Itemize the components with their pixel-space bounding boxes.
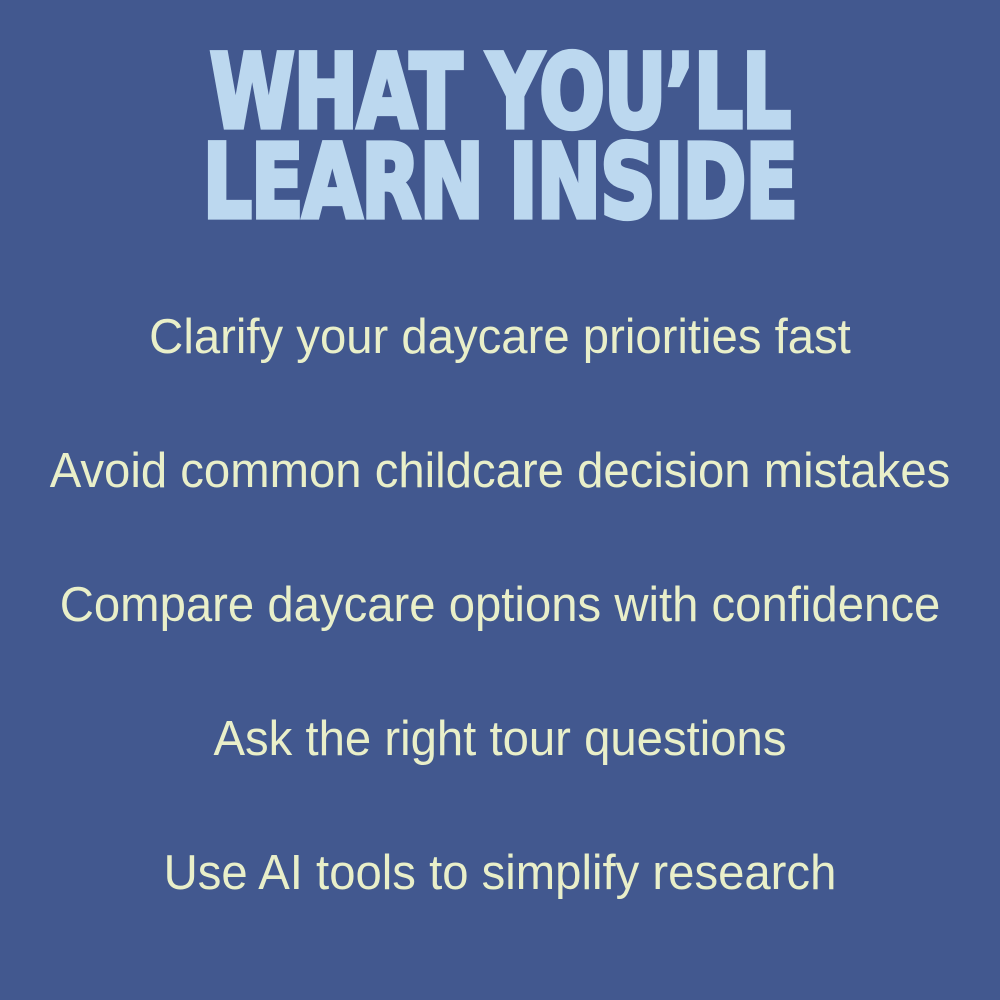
benefits-list: Clarify your daycare priorities fast Avo… <box>0 270 1000 940</box>
list-item: Clarify your daycare priorities fast <box>18 270 983 404</box>
list-item: Avoid common childcare decision mistakes <box>18 404 983 538</box>
page-title-line-1: WHAT YOU’LL <box>100 54 900 130</box>
list-item: Ask the right tour questions <box>18 672 983 806</box>
slide-canvas: WHAT YOU’LL LEARN INSIDE Clarify your da… <box>0 0 1000 1000</box>
list-item: Use AI tools to simplify research <box>18 806 983 940</box>
list-item: Compare daycare options with confidence <box>18 538 983 672</box>
page-title: WHAT YOU’LL LEARN INSIDE <box>0 36 1000 216</box>
page-title-line-2: LEARN INSIDE <box>100 144 900 220</box>
